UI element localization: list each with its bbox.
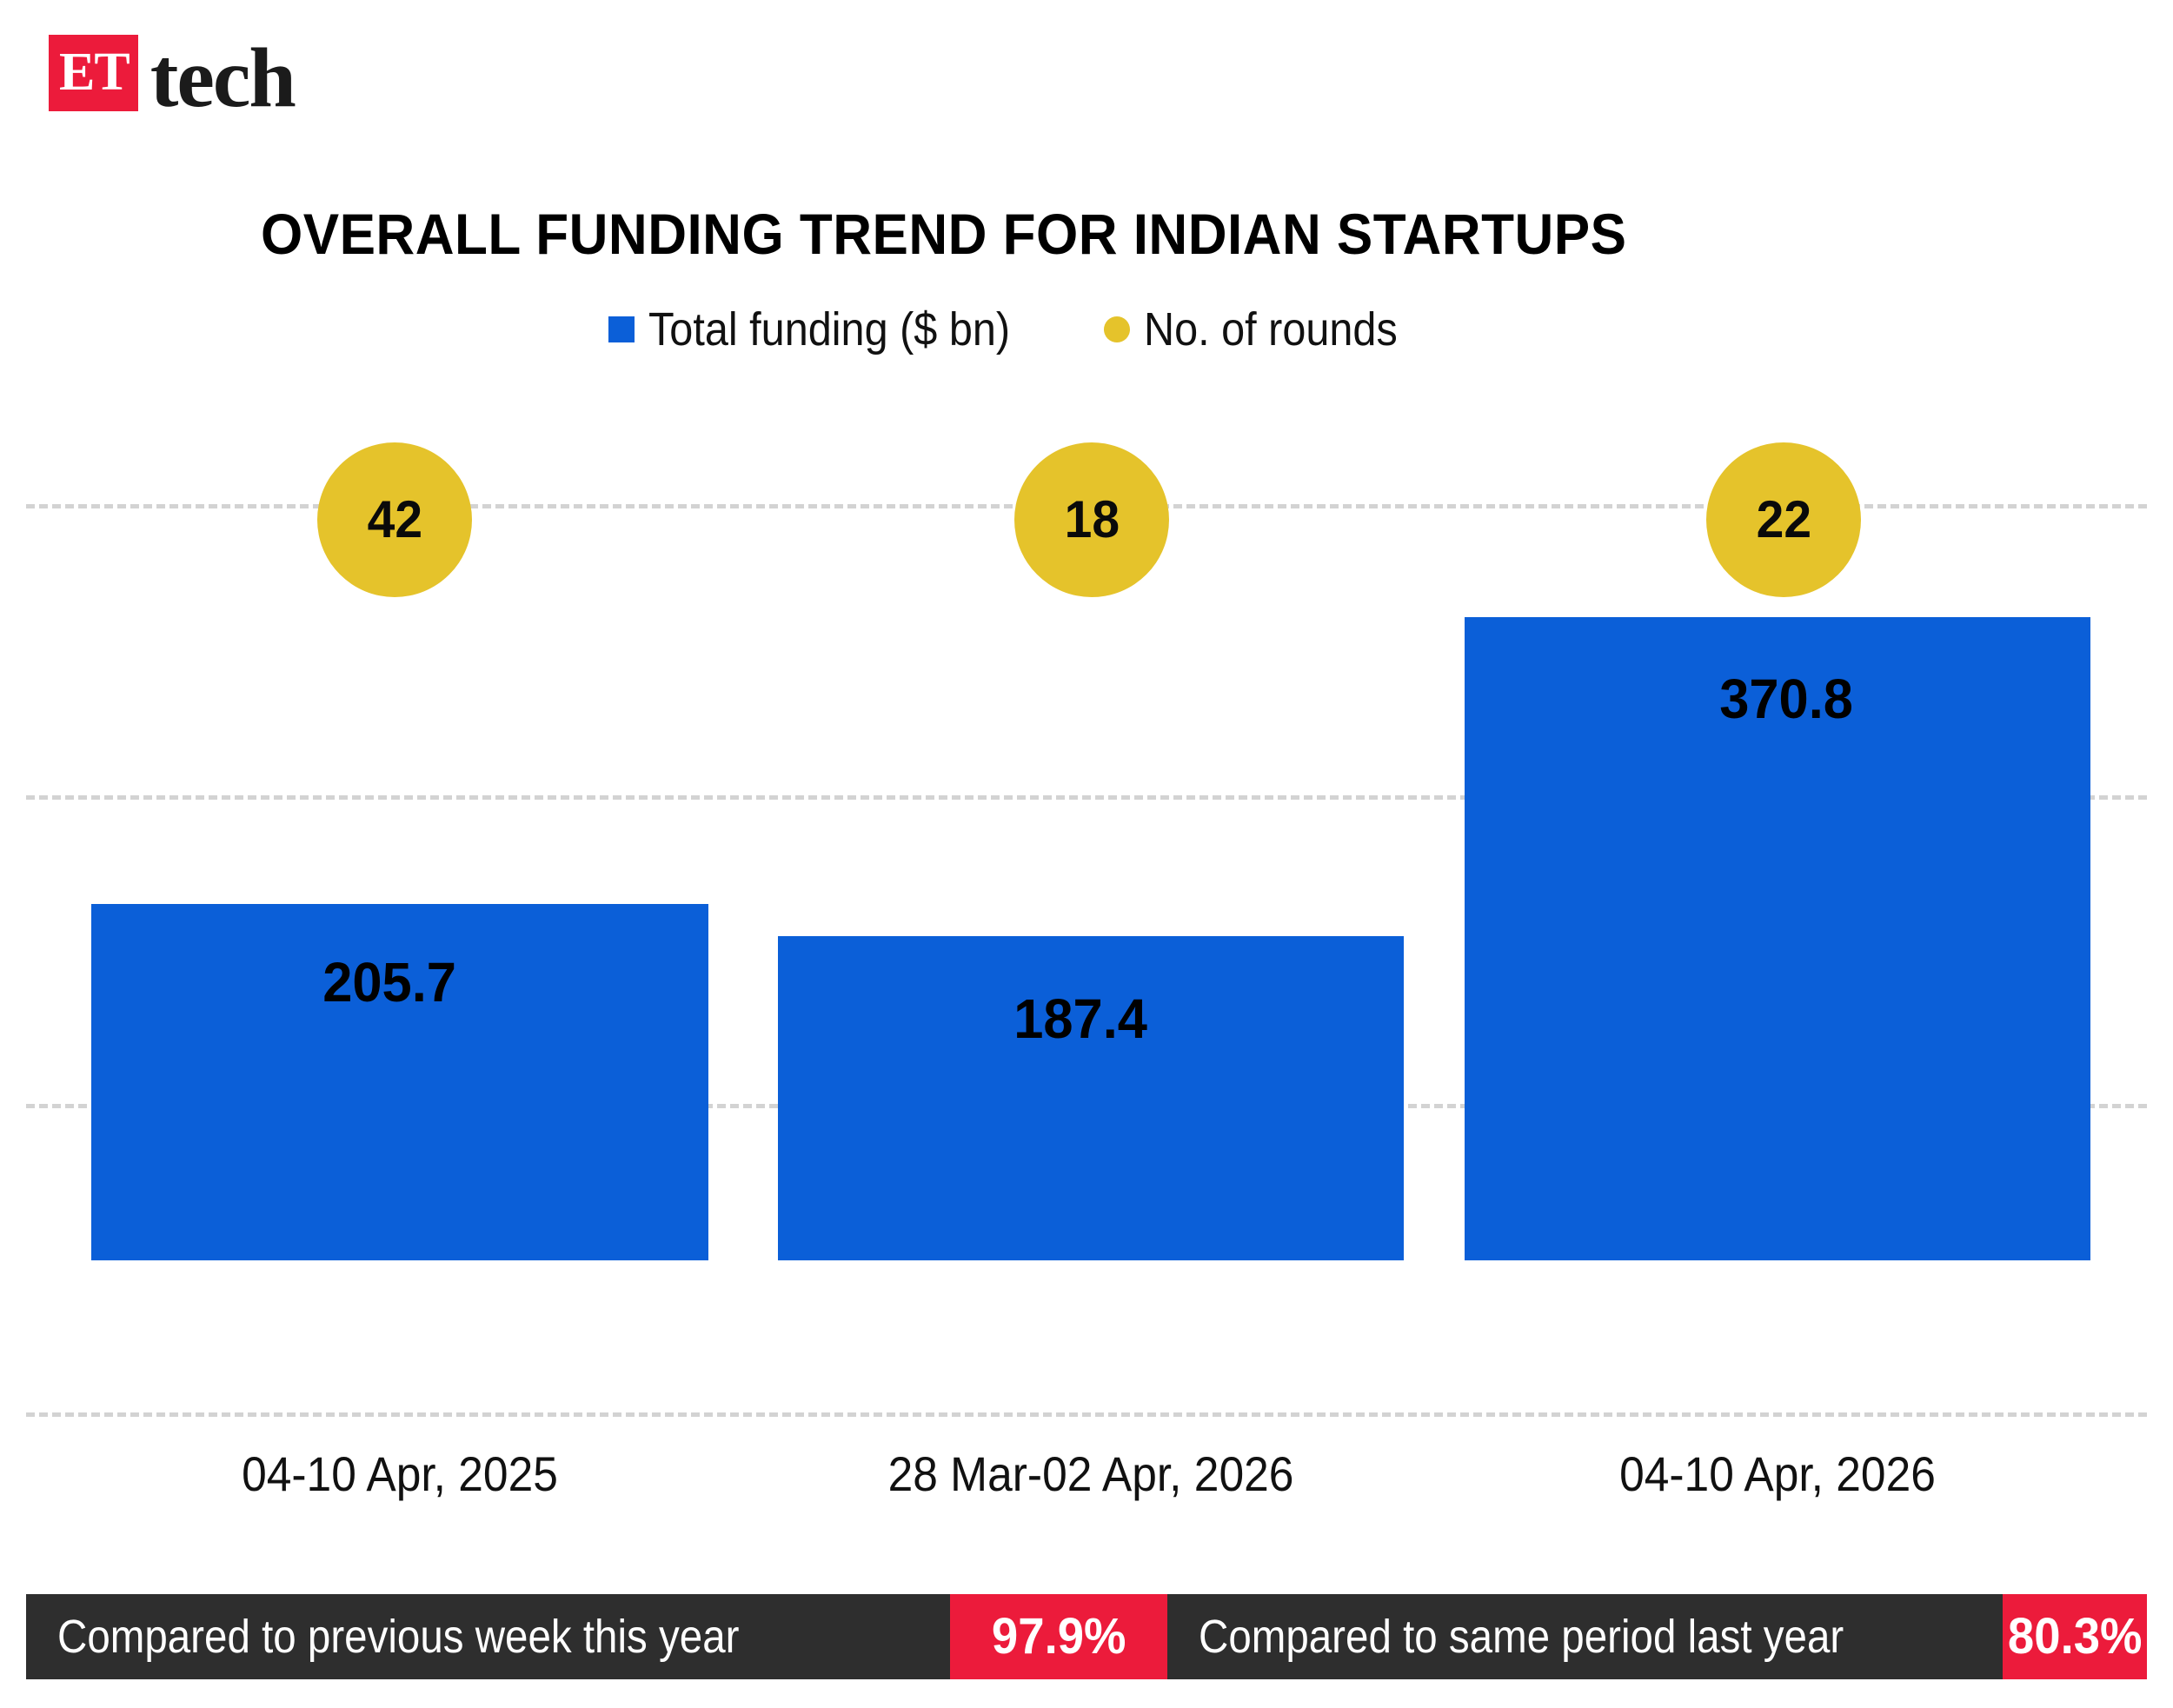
bar-28-mar-02-apr-2026 <box>778 936 1404 1260</box>
bubble-value-28-mar-02-apr-2026: 18 <box>1064 494 1119 546</box>
chart-plot-area: 205.7 187.4 370.8 42 18 22 04-10 Apr, 20… <box>0 0 2173 1556</box>
gridline-base <box>26 1412 2147 1417</box>
footer-label-previous-week: Compared to previous week this year <box>26 1594 950 1679</box>
bubble-value-04-10-apr-2025: 42 <box>367 494 422 546</box>
category-label-28-mar-02-apr-2026: 28 Mar-02 Apr, 2026 <box>803 1450 1379 1499</box>
bar-value-28-mar-02-apr-2026: 187.4 <box>1013 991 1147 1047</box>
bar-value-04-10-apr-2026: 370.8 <box>1719 671 1853 727</box>
bubble-rounds-28-mar-02-apr-2026: 18 <box>1014 442 1169 597</box>
footer-label-same-period-last-year: Compared to same period last year <box>1167 1594 2003 1679</box>
bubble-rounds-04-10-apr-2026: 22 <box>1706 442 1861 597</box>
footer-comparison-bar: Compared to previous week this year 97.9… <box>26 1594 2147 1679</box>
footer-value-previous-week: 97.9% <box>950 1594 1167 1679</box>
category-label-04-10-apr-2025: 04-10 Apr, 2025 <box>116 1450 683 1499</box>
bubble-rounds-04-10-apr-2025: 42 <box>317 442 472 597</box>
bar-value-04-10-apr-2025: 205.7 <box>322 954 456 1010</box>
bubble-value-04-10-apr-2026: 22 <box>1756 494 1811 546</box>
category-label-04-10-apr-2026: 04-10 Apr, 2026 <box>1490 1450 2065 1499</box>
footer-value-same-period-last-year: 80.3% <box>2003 1594 2147 1679</box>
